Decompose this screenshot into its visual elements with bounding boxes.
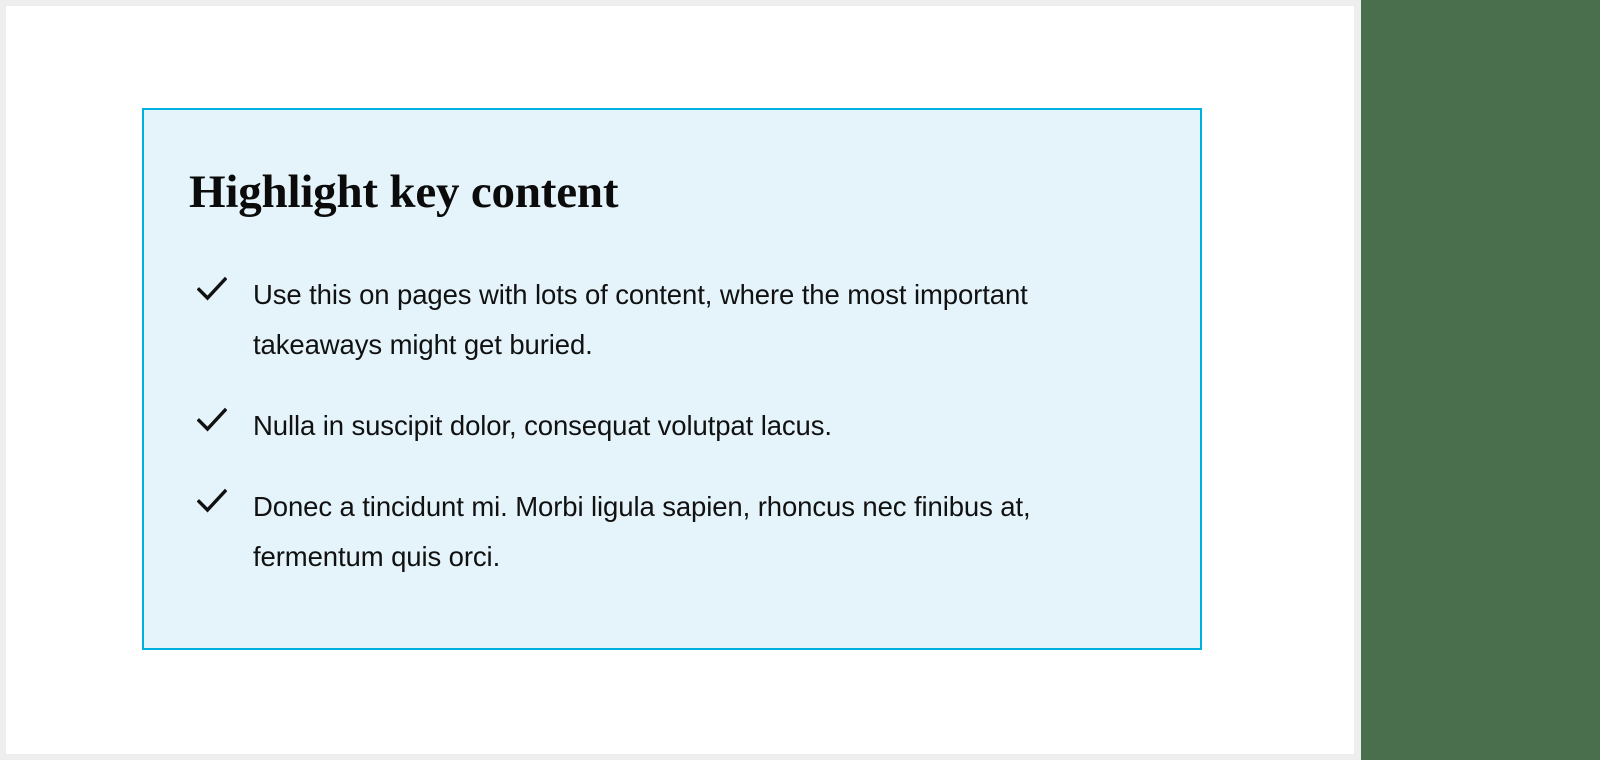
list-item: Use this on pages with lots of content, … [189,270,1149,370]
list-item-text: Donec a tincidunt mi. Morbi ligula sapie… [253,482,1043,582]
screenshot-canvas: Highlight key content Use this on pages … [0,0,1600,760]
list-item-text: Use this on pages with lots of content, … [253,270,1043,370]
document-page-surface: Highlight key content Use this on pages … [6,6,1354,754]
check-icon [197,276,227,302]
highlight-callout-box: Highlight key content Use this on pages … [142,108,1202,650]
callout-heading: Highlight key content [189,168,618,217]
list-item: Donec a tincidunt mi. Morbi ligula sapie… [189,482,1149,582]
right-color-panel [1361,0,1600,760]
check-icon [197,407,227,433]
list-item: Nulla in suscipit dolor, consequat volut… [189,401,1149,451]
callout-checklist: Use this on pages with lots of content, … [189,270,1149,582]
check-icon [197,488,227,514]
list-item-text: Nulla in suscipit dolor, consequat volut… [253,401,1043,451]
